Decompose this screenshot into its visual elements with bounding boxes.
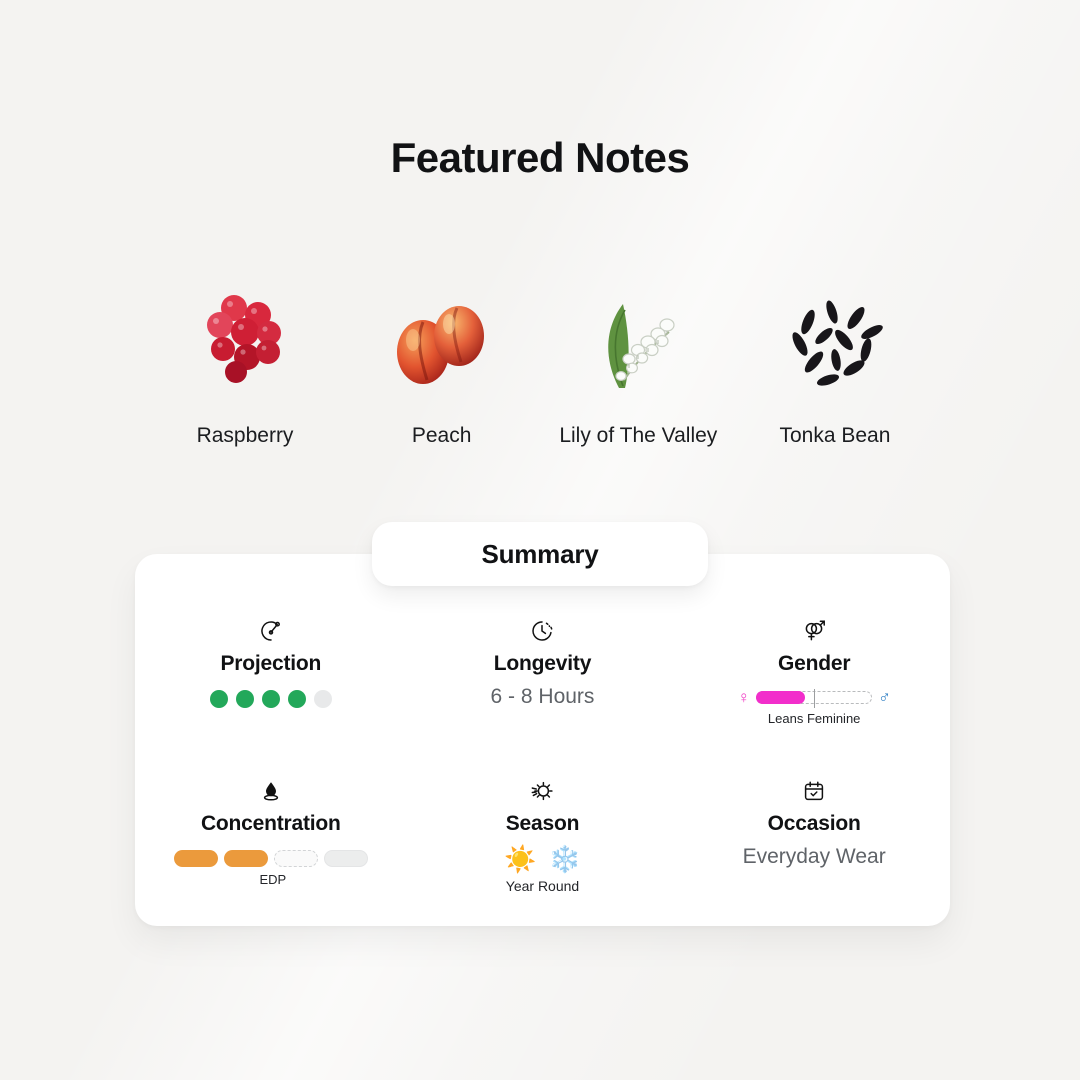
summary-title: Summary (481, 539, 598, 570)
featured-notes-page: Featured Notes (0, 0, 1080, 1080)
gauge-icon (259, 616, 283, 646)
featured-notes-list: Raspberry (150, 292, 930, 448)
sun-weather-icon (530, 776, 554, 806)
page-title: Featured Notes (0, 134, 1080, 182)
gender-scale-row: ♀ ♂ (737, 689, 891, 706)
concentration-segment (324, 850, 368, 867)
peach-icon (387, 292, 497, 396)
note-label: Lily of The Valley (559, 424, 717, 448)
concentration-segment (274, 850, 318, 867)
projection-dot (262, 690, 280, 708)
sun-emoji-icon: ☀️ (504, 846, 536, 872)
projection-dot (314, 690, 332, 708)
projection-title: Projection (220, 652, 321, 676)
tonka-bean-icon (780, 292, 890, 396)
summary-cell-longevity: Longevity 6 - 8 Hours (407, 600, 679, 760)
season-badges: ☀️ ❄️ Year Round (504, 846, 581, 894)
summary-header-pill: Summary (372, 522, 708, 586)
season-title: Season (506, 812, 580, 836)
lily-of-the-valley-icon (583, 292, 693, 396)
note-item-raspberry[interactable]: Raspberry (150, 292, 340, 448)
longevity-value: 6 - 8 Hours (491, 685, 595, 709)
gender-title: Gender (778, 652, 850, 676)
occasion-title: Occasion (768, 812, 861, 836)
summary-cell-occasion: Occasion Everyday Wear (678, 760, 950, 920)
longevity-title: Longevity (494, 652, 591, 676)
projection-dot (236, 690, 254, 708)
venus-mars-icon (801, 616, 827, 646)
note-label: Peach (412, 424, 472, 448)
projection-dot (288, 690, 306, 708)
season-caption: Year Round (506, 878, 579, 894)
droplet-icon (259, 776, 283, 806)
summary-cell-gender: Gender ♀ ♂ Leans Feminine (678, 600, 950, 760)
note-label: Tonka Bean (780, 424, 891, 448)
summary-cell-season: Season ☀️ ❄️ Year Round (407, 760, 679, 920)
summary-grid: Projection Longevity 6 - 8 Hours (135, 600, 950, 920)
venus-symbol-icon: ♀ (737, 689, 750, 706)
note-item-tonka-bean[interactable]: Tonka Bean (740, 292, 930, 448)
summary-cell-projection: Projection (135, 600, 407, 760)
snowflake-emoji-icon: ❄️ (548, 846, 580, 872)
note-item-lily-of-the-valley[interactable]: Lily of The Valley (543, 292, 733, 448)
gender-scale: ♀ ♂ Leans Feminine (737, 689, 891, 726)
concentration-scale: EDP (174, 850, 368, 887)
calendar-check-icon (802, 776, 826, 806)
summary-cell-concentration: Concentration EDP (135, 760, 407, 920)
mars-symbol-icon: ♂ (878, 689, 891, 706)
concentration-title: Concentration (201, 812, 341, 836)
clock-icon (530, 616, 554, 646)
gender-caption: Leans Feminine (768, 711, 861, 726)
projection-dot (210, 690, 228, 708)
concentration-segments (174, 850, 368, 867)
gender-slider-track[interactable] (756, 691, 872, 704)
note-item-peach[interactable]: Peach (347, 292, 537, 448)
gender-slider-fill (756, 691, 805, 704)
season-icon-row: ☀️ ❄️ (504, 846, 581, 872)
projection-rating (210, 690, 332, 708)
concentration-value: EDP (259, 872, 286, 887)
occasion-value: Everyday Wear (743, 845, 886, 869)
concentration-segment (224, 850, 268, 867)
gender-slider-midpoint (814, 689, 815, 708)
raspberry-icon (190, 292, 300, 396)
concentration-segment (174, 850, 218, 867)
note-label: Raspberry (197, 424, 294, 448)
